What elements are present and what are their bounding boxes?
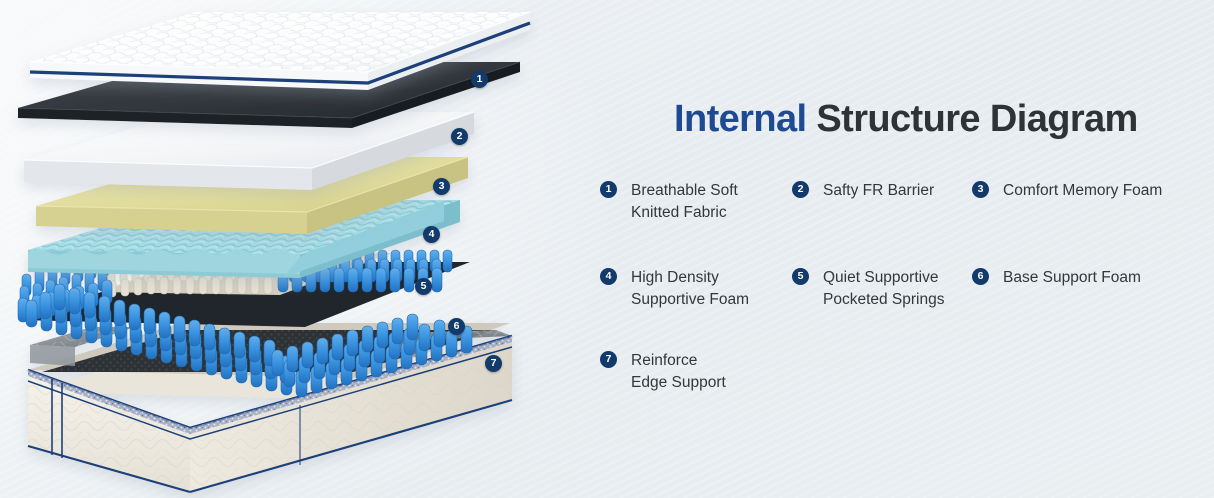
legend-badge-7: 7: [600, 351, 617, 368]
legend-badge-3: 3: [972, 181, 989, 198]
diagram-badge-3: 3: [433, 178, 450, 195]
diagram-badge-6: 6: [448, 318, 465, 335]
diagram-badge-7: 7: [485, 355, 502, 372]
legend-item-3: 3 Comfort Memory Foam: [972, 180, 1202, 202]
legend-item-6: 6 Base Support Foam: [972, 267, 1202, 289]
exploded-mattress-illustration: 1 2 3 4 5 6 7: [0, 0, 560, 498]
diagram-badge-5: 5: [415, 278, 432, 295]
legend-label-5: Quiet Supportive Pocketed Springs: [823, 267, 945, 311]
legend-item-1: 1 Breathable Soft Knitted Fabric: [600, 180, 800, 224]
internal-structure-diagram-page: 1 2 3 4 5 6 7 Internal Structure Diagram…: [0, 0, 1214, 498]
legend-badge-2: 2: [792, 181, 809, 198]
legend-label-6: Base Support Foam: [1003, 267, 1141, 289]
legend-label-7: Reinforce Edge Support: [631, 350, 726, 394]
info-panel: Internal Structure Diagram 1 Breathable …: [560, 0, 1214, 498]
diagram-badge-2: 2: [451, 128, 468, 145]
page-title-rest: Structure Diagram: [806, 98, 1137, 140]
legend-badge-4: 4: [600, 268, 617, 285]
legend-item-4: 4 High Density Supportive Foam: [600, 267, 800, 311]
page-title: Internal Structure Diagram: [674, 98, 1138, 141]
legend-badge-5: 5: [792, 268, 809, 285]
legend-item-5: 5 Quiet Supportive Pocketed Springs: [792, 267, 982, 311]
diagram-badge-1: 1: [471, 71, 488, 88]
legend-item-7: 7 Reinforce Edge Support: [600, 350, 800, 394]
legend-item-2: 2 Safty FR Barrier: [792, 180, 982, 202]
legend-badge-6: 6: [972, 268, 989, 285]
legend-label-1: Breathable Soft Knitted Fabric: [631, 180, 738, 224]
legend-label-2: Safty FR Barrier: [823, 180, 934, 202]
legend-badge-1: 1: [600, 181, 617, 198]
diagram-badge-4: 4: [423, 226, 440, 243]
legend-label-3: Comfort Memory Foam: [1003, 180, 1162, 202]
legend-label-4: High Density Supportive Foam: [631, 267, 749, 311]
page-title-accent: Internal: [674, 98, 806, 140]
